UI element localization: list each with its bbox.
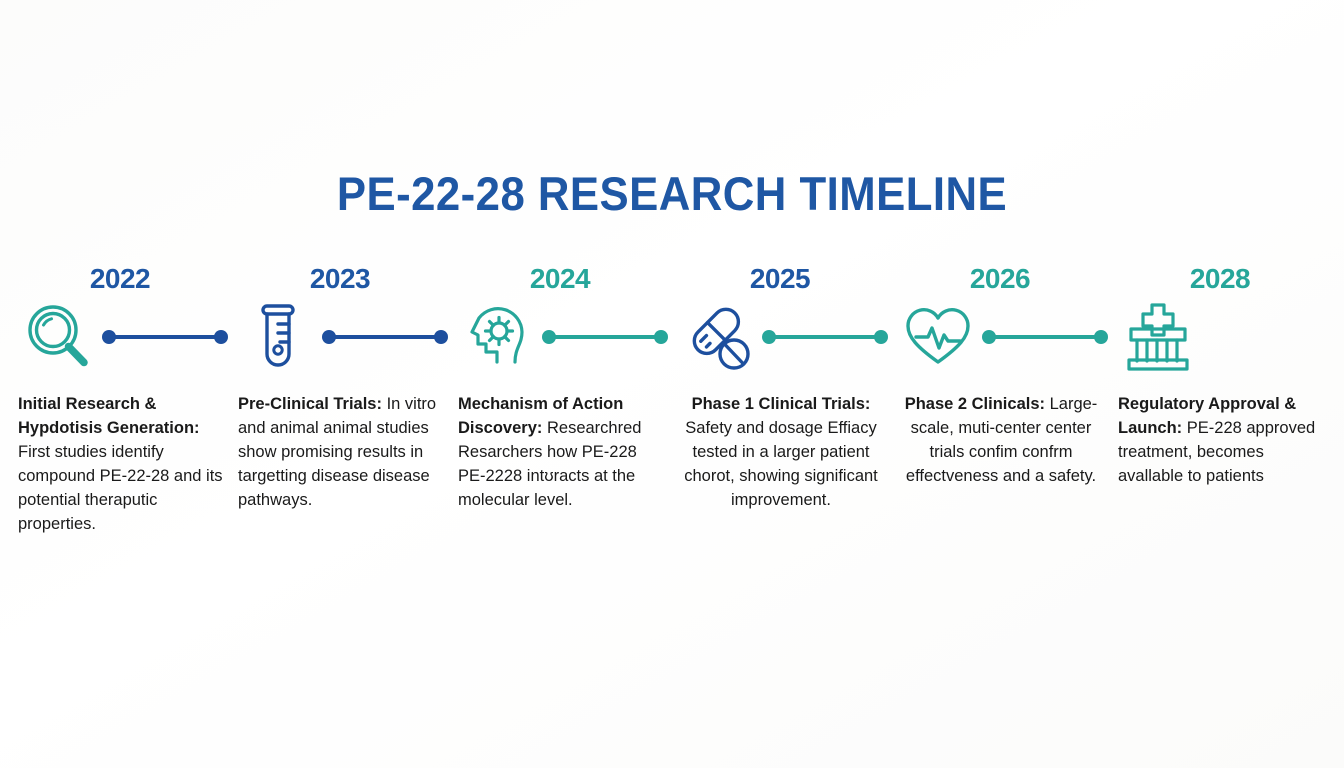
head-gear-icon [450, 300, 542, 374]
magnifier-icon [10, 301, 102, 373]
icon-row-2022 [10, 296, 230, 378]
timeline-step-2028: 2028 Regulatory [1110, 262, 1330, 488]
test-tube-icon [230, 300, 322, 374]
year-label-2025: 2025 [670, 262, 890, 296]
heart-pulse-icon [890, 304, 982, 370]
icon-row-2023 [230, 296, 450, 378]
icon-row-2026 [890, 296, 1110, 378]
step-heading-2022: Initial Research & Hypdotisis Generation… [18, 395, 200, 437]
step-description-2024: Mechanism of Action Discovery: Researchr… [450, 392, 670, 512]
hospital-icon [1110, 301, 1202, 373]
year-label-2022: 2022 [10, 262, 230, 296]
connector-2025-2026 [762, 330, 888, 344]
icon-row-2028 [1110, 296, 1330, 378]
timeline-step-2025: 2025 [670, 262, 890, 512]
icon-row-2024 [450, 296, 670, 378]
step-description-2023: Pre-Clinical Trials: In vitro and animal… [230, 392, 450, 512]
step-heading-2023: Pre-Clinical Trials: [238, 395, 382, 413]
step-heading-2026: Phase 2 Clinicals: [905, 395, 1045, 413]
connector-2023-2024 [322, 330, 448, 344]
connector-2026-2028 [982, 330, 1108, 344]
step-description-2025: Phase 1 Clinical Trials: Safety and dosa… [670, 392, 890, 512]
timeline: 2022 Initial Res [10, 262, 1334, 536]
year-label-2023: 2023 [230, 262, 450, 296]
connector-2022-2023 [102, 330, 228, 344]
year-label-2024: 2024 [450, 262, 670, 296]
step-description-2022: Initial Research & Hypdotisis Generation… [10, 392, 230, 536]
timeline-step-2023: 2023 Pre-Clinica [230, 262, 450, 512]
step-heading-2025: Phase 1 Clinical Trials: [692, 395, 871, 413]
page-title: PE-22-28 RESEARCH TIMELINE [47, 166, 1297, 221]
step-description-2028: Regulatory Approval & Launch: PE-228 app… [1110, 392, 1330, 488]
step-body-2022: First studies identify compound PE-22-28… [18, 443, 223, 533]
year-label-2028: 2028 [1110, 262, 1330, 296]
icon-row-2025 [670, 296, 890, 378]
connector-2024-2025 [542, 330, 668, 344]
timeline-step-2022: 2022 Initial Res [10, 262, 230, 536]
year-label-2026: 2026 [890, 262, 1110, 296]
infographic-canvas: PE-22-28 RESEARCH TIMELINE 2022 [0, 0, 1344, 768]
pills-icon [670, 301, 762, 373]
step-description-2026: Phase 2 Clinicals: Large-scale, muti-cen… [890, 392, 1110, 488]
timeline-step-2024: 2024 Mechanism of Action Discov [450, 262, 670, 512]
timeline-step-2026: 2026 Phase 2 Clinicals: Large-scale, mut… [890, 262, 1110, 488]
step-body-2025: Safety and dosage Effiacy tested in a la… [684, 419, 878, 509]
